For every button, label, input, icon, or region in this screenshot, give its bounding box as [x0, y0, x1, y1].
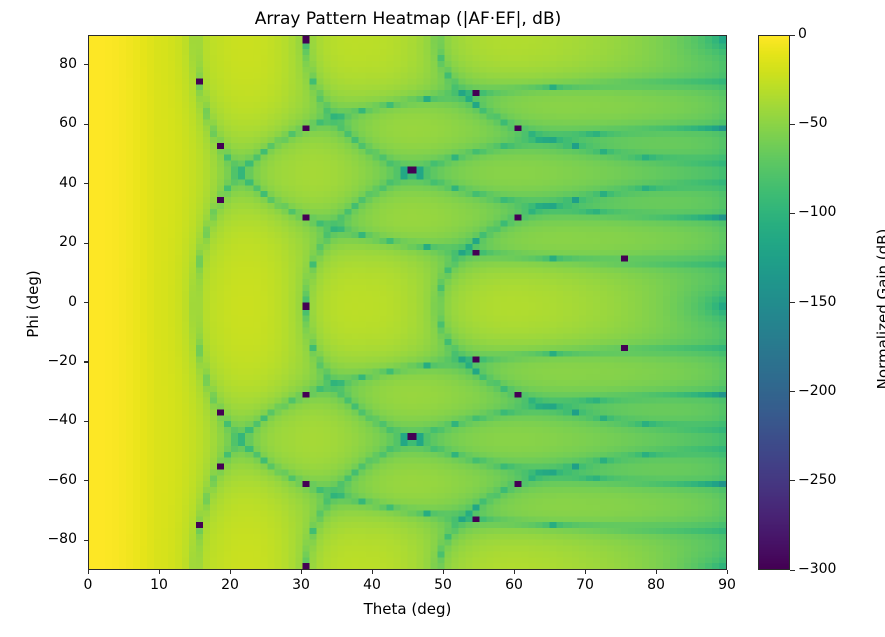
x-tick-label: 0	[58, 577, 118, 593]
colorbar[interactable]	[758, 35, 790, 570]
y-tick-label: −40	[17, 412, 77, 428]
y-tick	[84, 243, 88, 244]
x-tick-label: 10	[129, 577, 189, 593]
colorbar-tick	[790, 124, 795, 125]
figure-canvas: Array Pattern Heatmap (|AF·EF|, dB) Thet…	[0, 0, 885, 637]
colorbar-tick-label: −300	[798, 561, 858, 577]
colorbar-tick-label: −100	[798, 204, 858, 220]
x-tick	[230, 570, 231, 574]
colorbar-tick-label: −50	[798, 115, 858, 131]
colorbar-label: Normalized Gain (dB)	[874, 189, 885, 429]
y-tick	[84, 421, 88, 422]
colorbar-tick	[790, 391, 795, 392]
y-tick-label: 0	[17, 294, 77, 310]
page-title: Array Pattern Heatmap (|AF·EF|, dB)	[88, 6, 728, 32]
y-tick-label: 40	[17, 175, 77, 191]
colorbar-tick-label: 0	[798, 26, 858, 42]
y-tick-label: 20	[17, 234, 77, 250]
y-tick	[84, 183, 88, 184]
x-tick-label: 90	[697, 577, 757, 593]
colorbar-tick	[790, 302, 795, 303]
x-tick-label: 50	[413, 577, 473, 593]
colorbar-tick-label: −250	[798, 472, 858, 488]
x-axis-label: Theta (deg)	[88, 600, 727, 618]
colorbar-tick	[790, 35, 795, 36]
x-tick-label: 80	[626, 577, 686, 593]
x-tick	[727, 570, 728, 574]
x-tick	[372, 570, 373, 574]
x-tick	[443, 570, 444, 574]
x-tick-label: 30	[271, 577, 331, 593]
x-tick	[514, 570, 515, 574]
heatmap-plot-area[interactable]	[88, 35, 727, 570]
y-tick-label: −80	[17, 531, 77, 547]
x-tick	[585, 570, 586, 574]
x-tick	[301, 570, 302, 574]
y-tick-label: −60	[17, 472, 77, 488]
y-tick-label: 80	[17, 56, 77, 72]
x-tick-label: 70	[555, 577, 615, 593]
x-tick-label: 60	[484, 577, 544, 593]
colorbar-tick	[790, 570, 795, 571]
y-tick-label: 60	[17, 115, 77, 131]
y-tick-label: −20	[17, 353, 77, 369]
colorbar-tick-label: −150	[798, 294, 858, 310]
y-tick	[84, 64, 88, 65]
colorbar-tick-label: −200	[798, 383, 858, 399]
y-tick	[84, 540, 88, 541]
x-tick	[656, 570, 657, 574]
y-tick	[84, 124, 88, 125]
colorbar-tick	[790, 213, 795, 214]
colorbar-tick	[790, 480, 795, 481]
colorbar-gradient	[759, 36, 789, 569]
x-tick-label: 20	[200, 577, 260, 593]
y-tick	[84, 302, 88, 303]
x-tick	[159, 570, 160, 574]
y-tick	[84, 361, 88, 362]
heatmap-image	[89, 36, 726, 569]
x-tick-label: 40	[342, 577, 402, 593]
y-tick	[84, 480, 88, 481]
x-tick	[88, 570, 89, 574]
